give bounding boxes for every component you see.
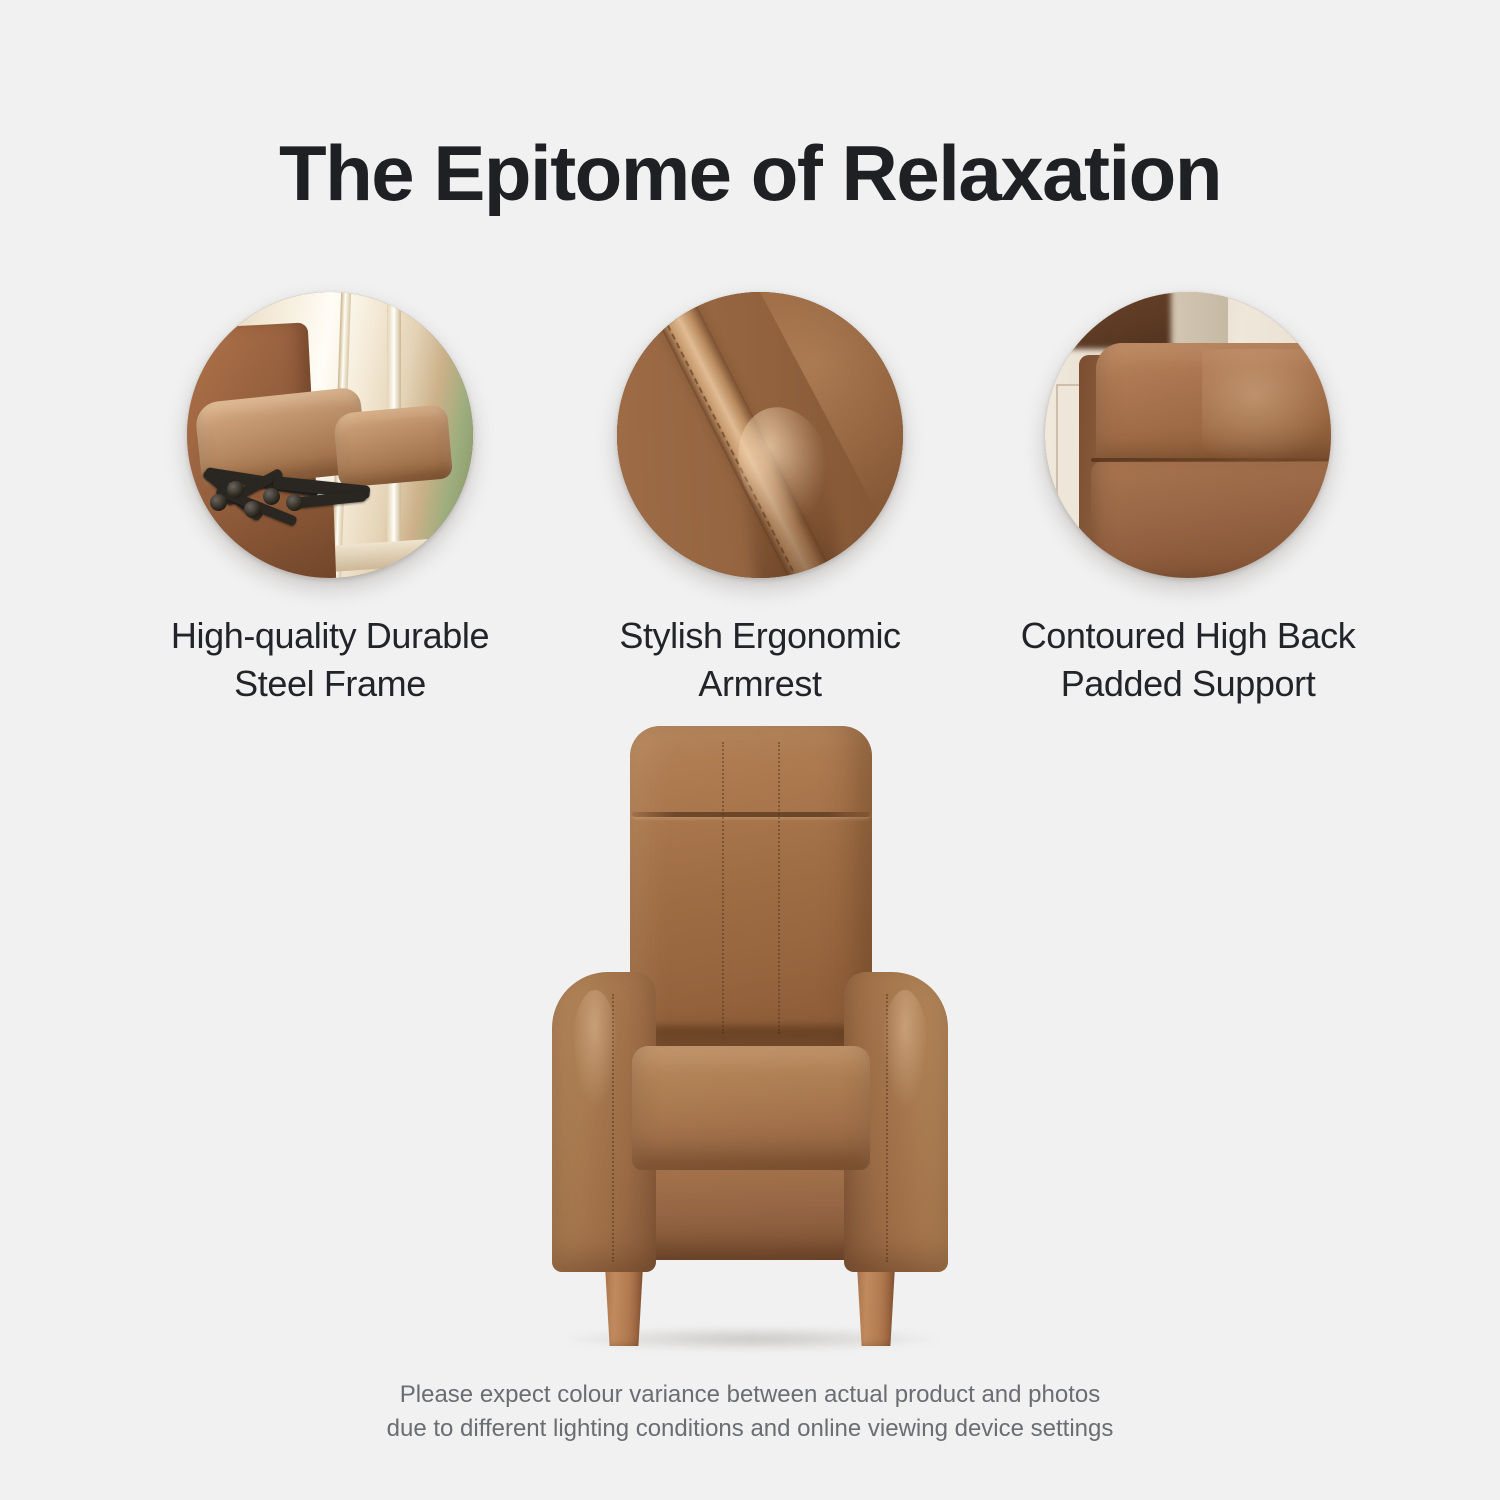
feature-image-steel-frame: [187, 292, 473, 578]
disclaimer-line-1: Please expect colour variance between ac…: [0, 1378, 1500, 1412]
chair-top-shadow: [1045, 292, 1171, 349]
arm-highlight-right: [882, 990, 928, 1110]
caption-line-2: Padded Support: [988, 660, 1388, 708]
feature-highlights-row: High-quality Durable Steel Frame Stylish…: [0, 292, 1500, 712]
feature-caption-high-back: Contoured High Back Padded Support: [988, 612, 1388, 707]
feature-caption-armrest: Stylish Ergonomic Armrest: [560, 612, 960, 707]
product-image-recliner: [546, 726, 954, 1354]
arm-highlight-left: [572, 990, 618, 1110]
feature-high-back: Contoured High Back Padded Support: [988, 292, 1388, 707]
caption-line-2: Steel Frame: [130, 660, 530, 708]
hero-product-section: [0, 726, 1500, 1366]
page-title: The Epitome of Relaxation: [0, 133, 1500, 215]
chair-backrest: [630, 726, 872, 1056]
feature-steel-frame: High-quality Durable Steel Frame: [130, 292, 530, 707]
steel-reclining-mechanism: [193, 464, 405, 550]
feature-caption-steel-frame: High-quality Durable Steel Frame: [130, 612, 530, 707]
infographic-page: The Epitome of Relaxation: [0, 0, 1500, 1500]
feature-armrest: Stylish Ergonomic Armrest: [560, 292, 960, 707]
leather-gloss-highlight: [1202, 349, 1331, 463]
colour-variance-disclaimer: Please expect colour variance between ac…: [0, 1378, 1500, 1446]
chair-base-skirt: [630, 1164, 872, 1260]
caption-line-2: Armrest: [560, 660, 960, 708]
feature-image-high-back: [1045, 292, 1331, 578]
disclaimer-line-2: due to different lighting conditions and…: [0, 1412, 1500, 1446]
back-cushion-lower: [1091, 461, 1331, 578]
feature-image-armrest: [617, 292, 903, 578]
caption-line-1: Contoured High Back: [988, 612, 1388, 660]
chair-seat-cushion: [632, 1046, 870, 1170]
caption-line-1: Stylish Ergonomic: [560, 612, 960, 660]
caption-line-1: High-quality Durable: [130, 612, 530, 660]
backrest-stitch-right: [778, 742, 780, 1034]
armrest-edge-shading: [774, 292, 903, 578]
backrest-stitch-left: [722, 742, 724, 1034]
